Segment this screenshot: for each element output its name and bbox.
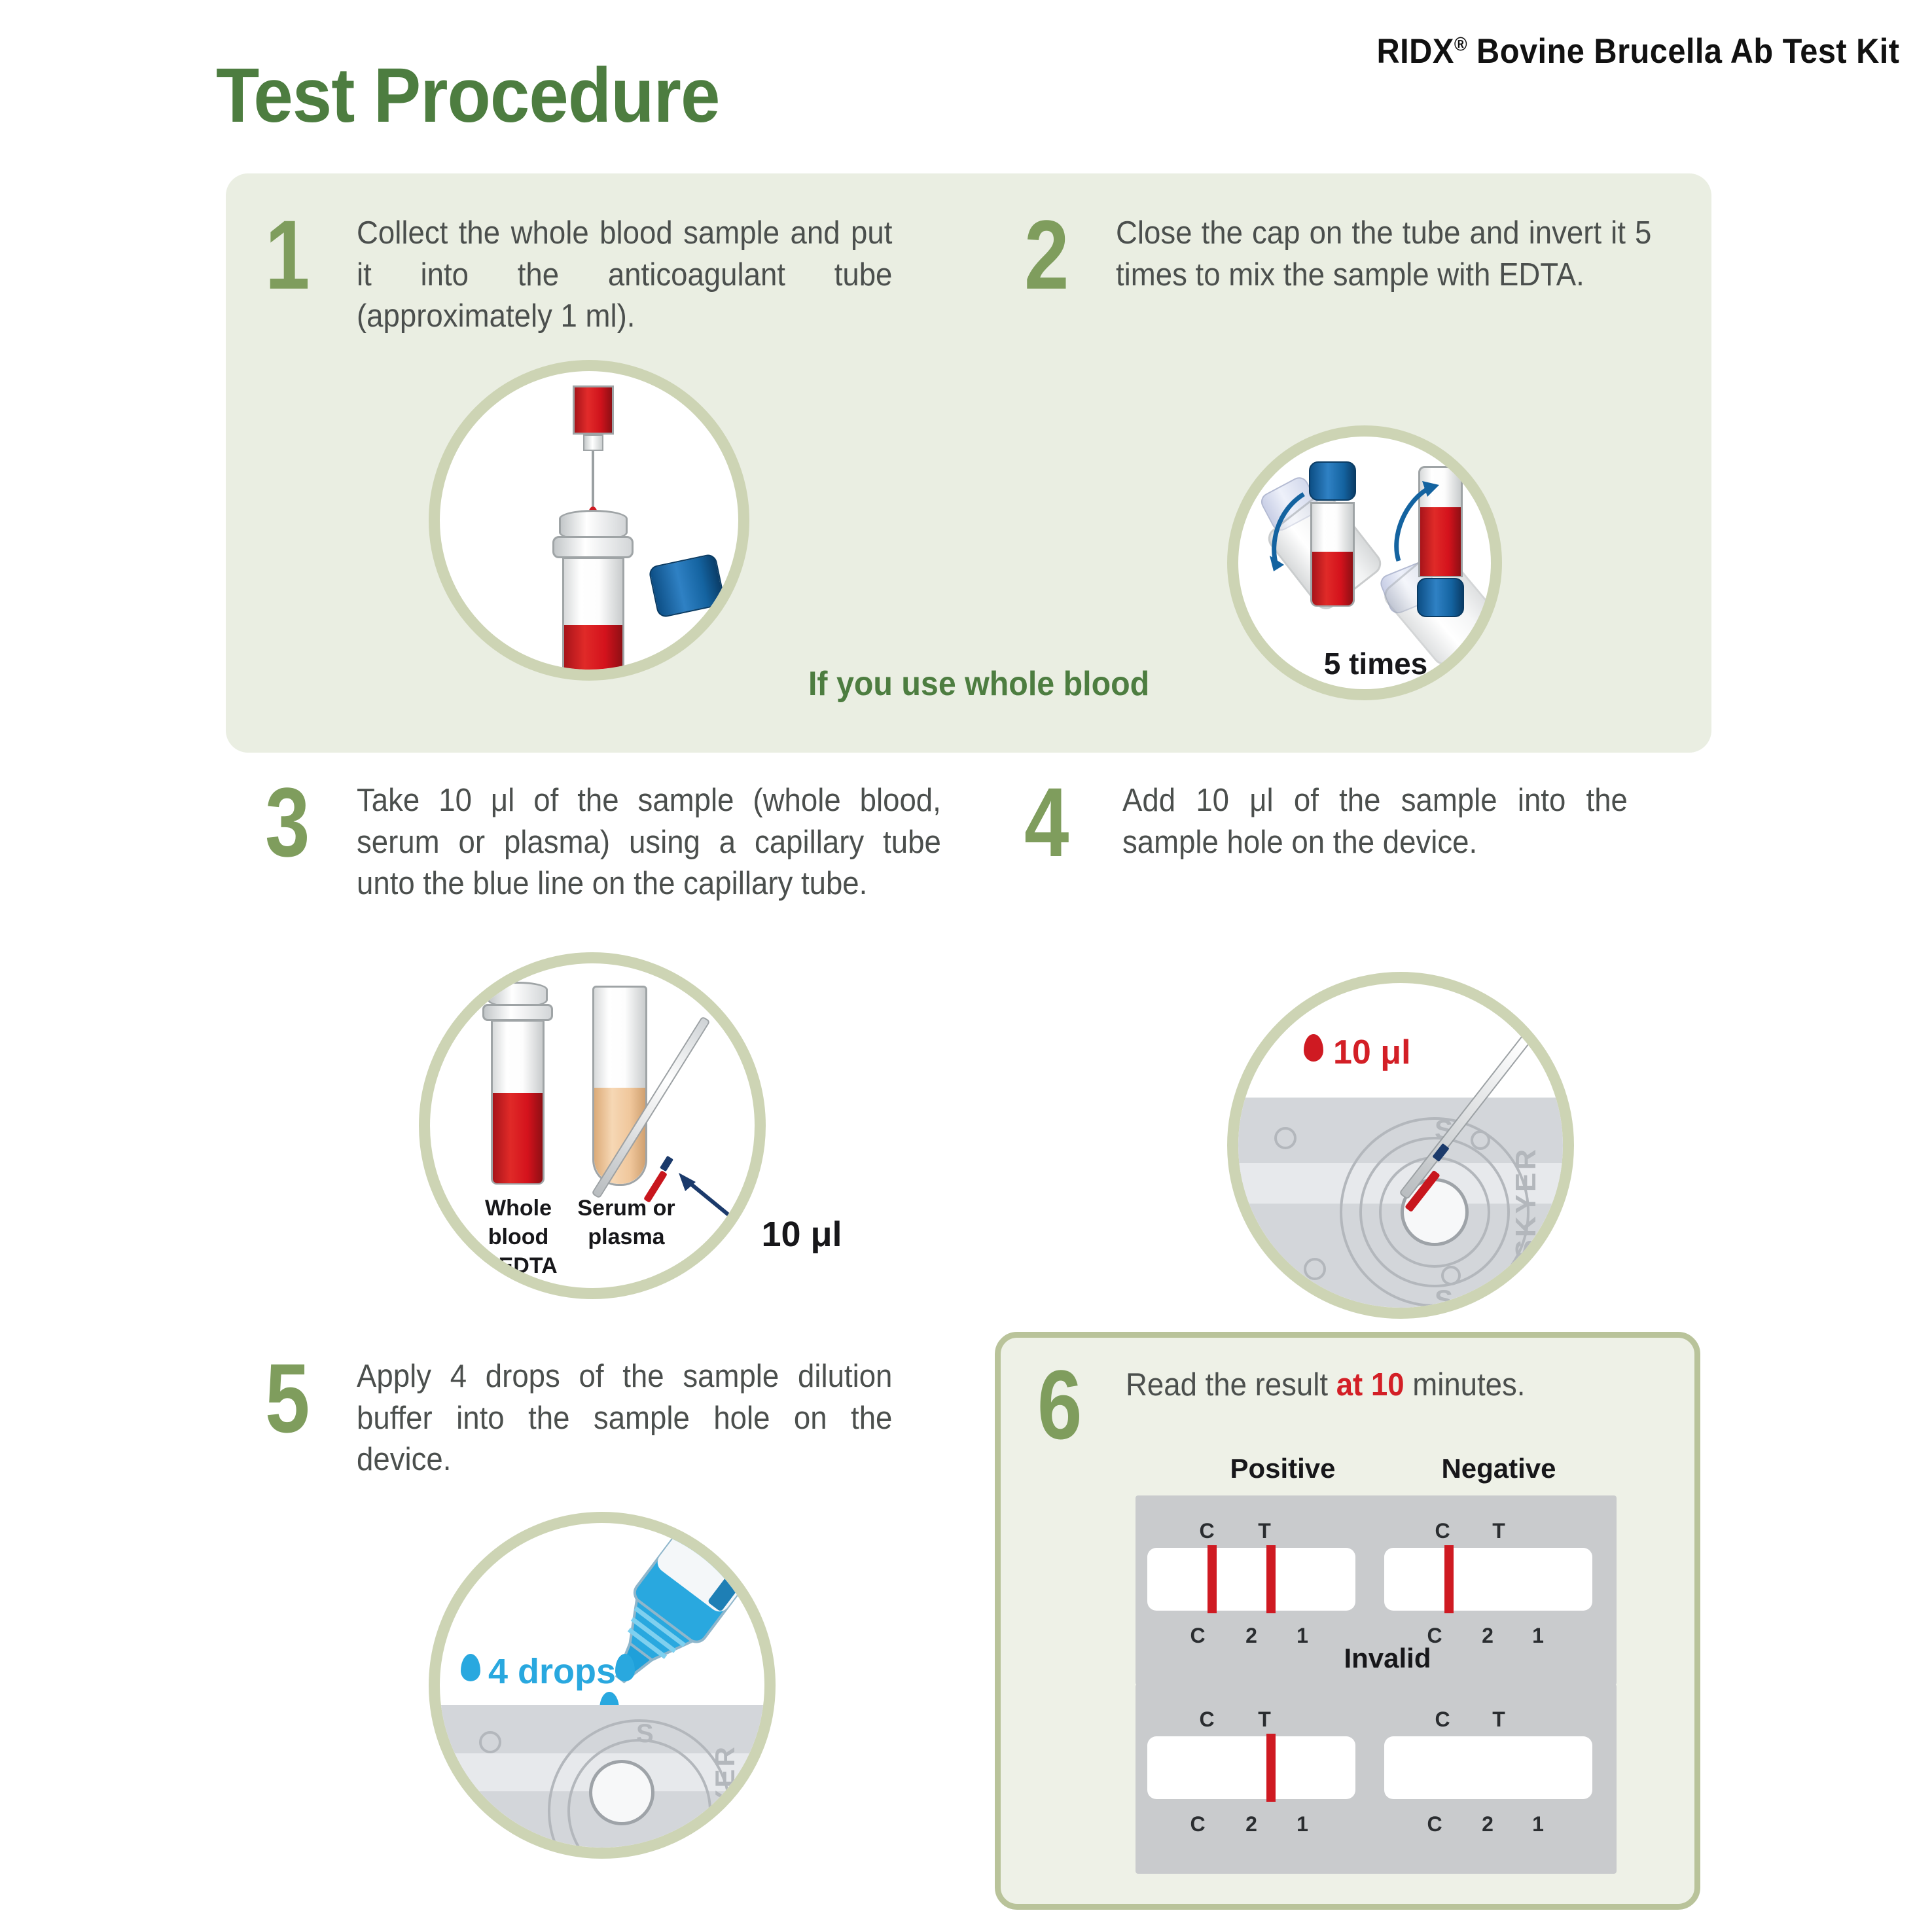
negative-bottom-marker-1: 1 bbox=[1528, 1624, 1548, 1648]
test-procedure-infographic: RIDX® Bovine Brucella Ab Test Kit Test P… bbox=[0, 0, 1932, 1932]
step-4-illustration: S S SKYER 10 μl bbox=[1227, 972, 1574, 1319]
device-hole-small-left-2 bbox=[1304, 1258, 1326, 1280]
drop-icon-left bbox=[461, 1654, 480, 1681]
invalid-blank-bottom-marker-1: 1 bbox=[1528, 1812, 1548, 1836]
invalid-band-t bbox=[1266, 1734, 1276, 1802]
invalid-blank-top-marker-c: C bbox=[1433, 1708, 1452, 1732]
page-title: Test Procedure bbox=[216, 51, 719, 140]
serum-plasma-label: Serum or plasma bbox=[564, 1194, 689, 1251]
invert-arrow-left-icon bbox=[1258, 488, 1323, 579]
positive-bottom-marker-2: 2 bbox=[1242, 1624, 1261, 1648]
syringe-needle-icon bbox=[592, 451, 594, 510]
invalid-t-top-marker-c: C bbox=[1197, 1708, 1217, 1732]
invalid-blank-bottom-marker-c: C bbox=[1425, 1812, 1444, 1836]
step-2-text: Close the cap on the tube and invert it … bbox=[1116, 213, 1651, 296]
step-6-number: 6 bbox=[1037, 1358, 1082, 1452]
invalid-blank-bottom-marker-2: 2 bbox=[1478, 1812, 1497, 1836]
result-title-negative: Negative bbox=[1414, 1453, 1584, 1484]
step-1-number: 1 bbox=[265, 208, 310, 302]
whole-blood-label-line1: Whole bbox=[463, 1194, 574, 1223]
step-5-drops-label: 4 drops bbox=[488, 1651, 616, 1692]
device-brand-label: SKYER bbox=[1510, 1147, 1543, 1259]
step-4-number: 4 bbox=[1024, 776, 1069, 869]
step-2-illustration: 5 times bbox=[1227, 425, 1502, 700]
step-1-illustration bbox=[429, 360, 749, 681]
device-hole-small-right-2 bbox=[1471, 1130, 1490, 1150]
tube-collar-icon bbox=[552, 536, 634, 558]
whole-blood-note: If you use whole blood bbox=[808, 664, 1149, 704]
invert-arrow-right-icon bbox=[1379, 476, 1451, 571]
negative-top-marker-t: T bbox=[1489, 1519, 1509, 1543]
step-5-number: 5 bbox=[265, 1351, 310, 1445]
step-6-text-highlight: at 10 bbox=[1336, 1367, 1404, 1403]
positive-bottom-marker-c: C bbox=[1188, 1624, 1207, 1648]
whole-blood-tube-fill bbox=[493, 1093, 543, 1183]
blue-cap-icon bbox=[648, 553, 726, 618]
negative-strip bbox=[1384, 1548, 1592, 1611]
serum-plasma-label-line1: Serum or bbox=[564, 1194, 689, 1223]
negative-band-c bbox=[1444, 1545, 1454, 1613]
positive-top-marker-c: C bbox=[1197, 1519, 1217, 1543]
step-5-text: Apply 4 drops of the sample dilution buf… bbox=[357, 1356, 892, 1481]
step-5-illustration: 4 drops S SKYER bbox=[429, 1512, 776, 1859]
step-5-device-hole-left bbox=[479, 1731, 501, 1753]
invalid-t-bottom-marker-2: 2 bbox=[1242, 1812, 1261, 1836]
whole-blood-tube-collar bbox=[482, 1004, 553, 1021]
positive-strip bbox=[1147, 1548, 1355, 1611]
kit-name-header: RIDX® Bovine Brucella Ab Test Kit bbox=[1376, 31, 1899, 71]
step-5-device-sample-hole bbox=[589, 1760, 654, 1825]
negative-top-marker-c: C bbox=[1433, 1519, 1452, 1543]
positive-band-t bbox=[1266, 1545, 1276, 1613]
invalid-blank-top-marker-t: T bbox=[1489, 1708, 1509, 1732]
device-hole-small-left bbox=[1274, 1127, 1297, 1149]
kit-brand: RIDX bbox=[1376, 32, 1454, 71]
step-3-number: 3 bbox=[265, 776, 310, 869]
whole-blood-label: Whole blood + EDTA bbox=[463, 1194, 574, 1281]
negative-bottom-marker-2: 2 bbox=[1478, 1624, 1497, 1648]
kit-description: Bovine Brucella Ab Test Kit bbox=[1467, 32, 1899, 71]
device-marker-bottom: S bbox=[1435, 1284, 1453, 1315]
whole-blood-label-line3: + EDTA bbox=[463, 1251, 574, 1280]
invalid-t-bottom-marker-c: C bbox=[1188, 1812, 1207, 1836]
positive-top-marker-t: T bbox=[1255, 1519, 1274, 1543]
step-4-drop-icon bbox=[1304, 1034, 1323, 1062]
step-4-text: Add 10 μl of the sample into the sample … bbox=[1122, 780, 1628, 863]
step-3-volume-label: 10 μl bbox=[730, 1214, 874, 1255]
device-hole-small-right bbox=[1441, 1266, 1461, 1285]
step-6-text-after: minutes. bbox=[1404, 1367, 1526, 1403]
syringe-hub-icon bbox=[583, 435, 603, 451]
blue-cap-upright-right-icon bbox=[1417, 578, 1464, 617]
serum-plasma-label-line2: plasma bbox=[564, 1223, 689, 1251]
tube-blood-fill bbox=[564, 625, 622, 676]
whole-blood-label-line2: blood bbox=[463, 1223, 574, 1251]
positive-band-c bbox=[1207, 1545, 1217, 1613]
invalid-t-strip bbox=[1147, 1736, 1355, 1799]
step-6-text: Read the result at 10 minutes. bbox=[1126, 1365, 1625, 1406]
step-1-text: Collect the whole blood sample and put i… bbox=[357, 213, 892, 338]
syringe-barrel-icon bbox=[573, 385, 614, 435]
step-3-illustration: Whole blood + EDTA Serum or plasma bbox=[419, 952, 766, 1299]
result-title-invalid: Invalid bbox=[1302, 1643, 1473, 1674]
invalid-t-top-marker-t: T bbox=[1255, 1708, 1274, 1732]
result-title-positive: Positive bbox=[1198, 1453, 1368, 1484]
step-2-illustration-label: 5 times bbox=[1238, 646, 1502, 681]
step-5-device-brand: SKYER bbox=[709, 1744, 741, 1852]
invalid-t-bottom-marker-1: 1 bbox=[1293, 1812, 1312, 1836]
step-6-text-before: Read the result bbox=[1126, 1367, 1336, 1403]
step-5-device-marker: S bbox=[636, 1719, 654, 1749]
registered-mark-icon: ® bbox=[1454, 34, 1467, 55]
step-4-volume-label: 10 μl bbox=[1333, 1033, 1411, 1072]
invalid-blank-strip bbox=[1384, 1736, 1592, 1799]
step-2-number: 2 bbox=[1024, 208, 1069, 302]
step-3-text: Take 10 μl of the sample (whole blood, s… bbox=[357, 780, 941, 905]
result-group-invalid: C T C 2 1 C T C 2 1 bbox=[1136, 1684, 1617, 1874]
